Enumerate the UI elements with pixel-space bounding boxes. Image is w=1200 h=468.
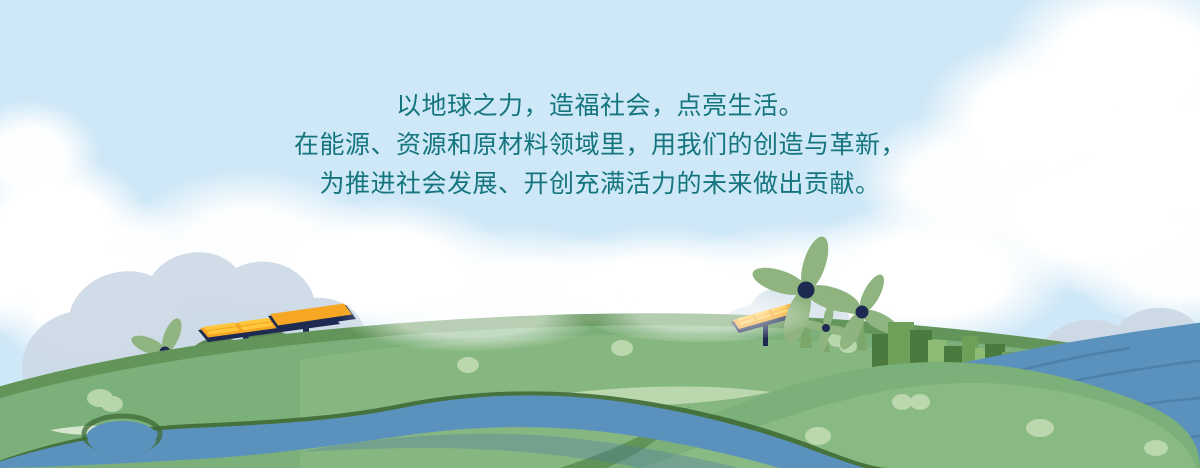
eco-energy-hero-banner: 以地球之力，造福社会，点亮生活。 在能源、资源和原材料领域里，用我们的创造与革新… [0,0,1200,468]
illustration-scene [0,0,1200,468]
